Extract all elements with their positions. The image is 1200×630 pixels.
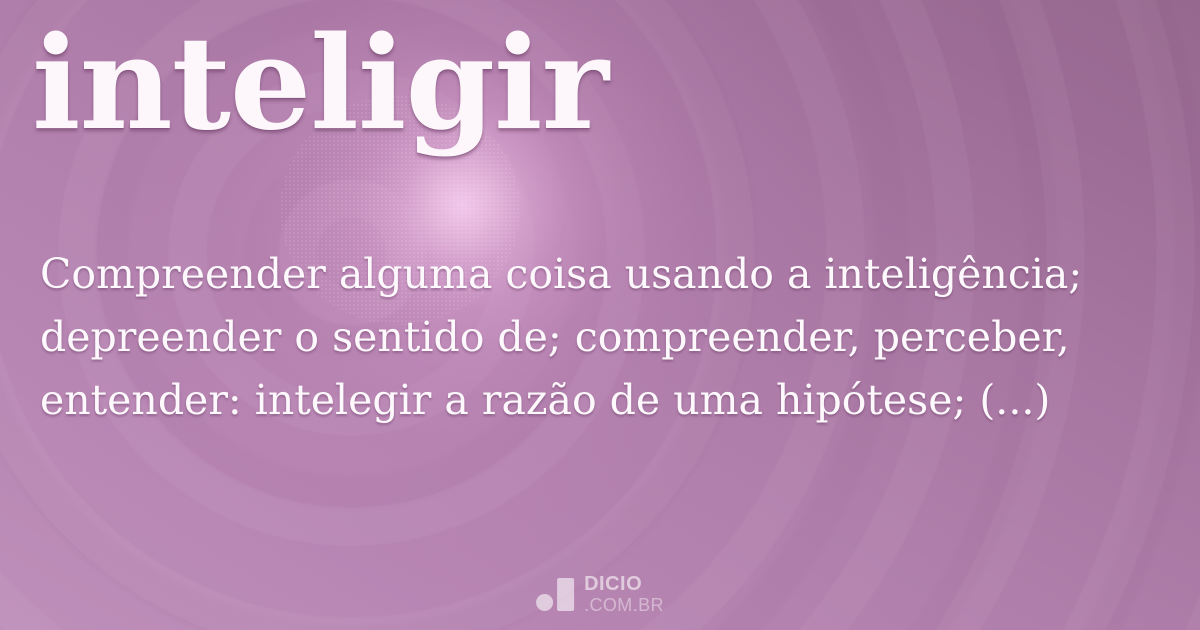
bar-icon — [557, 578, 574, 611]
dicio-logo-text: DICIO .COM.BR — [584, 574, 664, 614]
card-content: inteligir Compreender alguma coisa usand… — [0, 0, 1200, 630]
dicio-logo-name: DICIO — [584, 574, 664, 594]
dicio-logo[interactable]: DICIO .COM.BR — [536, 574, 664, 614]
circle-icon — [536, 594, 553, 611]
word-card: inteligir Compreender alguma coisa usand… — [0, 0, 1200, 630]
dicio-logo-mark — [536, 578, 575, 611]
word-definition: Compreender alguma coisa usando a inteli… — [40, 243, 1110, 432]
dicio-logo-tld: .COM.BR — [584, 596, 664, 614]
page-title: inteligir — [32, 20, 608, 148]
